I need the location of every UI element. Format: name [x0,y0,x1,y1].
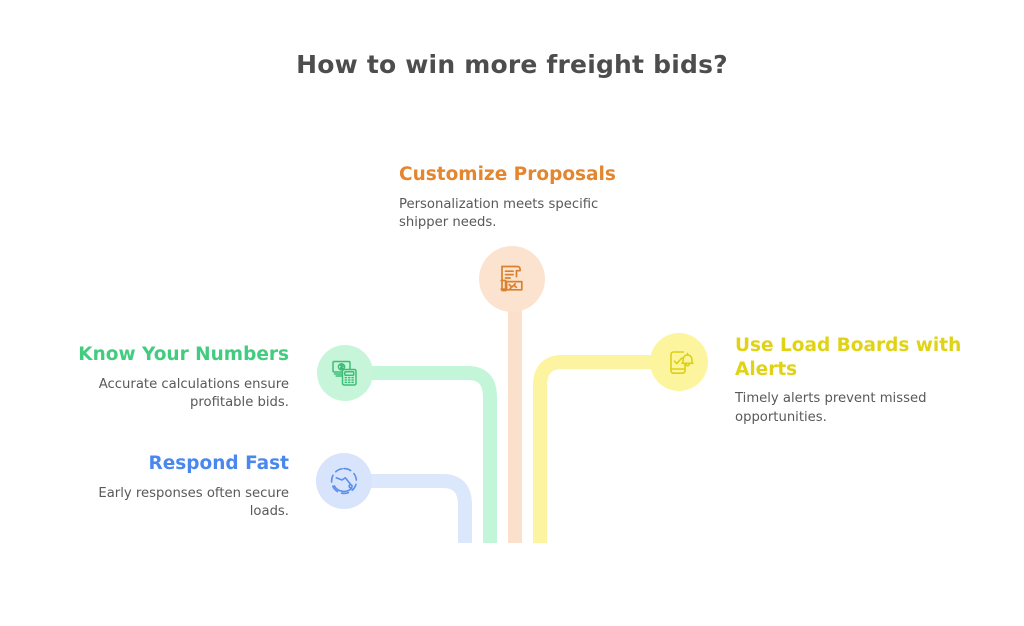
heading-use-load-boards-with-alerts: Use Load Boards with Alerts [735,334,967,381]
connector-respond-fast [367,481,465,543]
text-block-know-your-numbers: Know Your Numbers Accurate calculations … [60,343,289,413]
text-block-customize-proposals: Customize Proposals Personalization meet… [399,163,639,233]
phone-bell-check-icon [663,346,695,378]
node-icon-customize-proposals[interactable] [479,246,545,312]
speedometer-gauge-icon [328,465,360,497]
heading-customize-proposals: Customize Proposals [399,163,639,187]
connector-know-your-numbers [368,373,490,543]
infographic-canvas: How to win more freight bids? [0,0,1024,626]
heading-respond-fast: Respond Fast [60,452,289,476]
description-respond-fast: Early responses often secure loads. [60,485,289,522]
description-use-load-boards-with-alerts: Timely alerts prevent missed opportuniti… [735,390,967,427]
description-customize-proposals: Personalization meets specific shipper n… [399,196,639,233]
money-calculator-icon [329,357,361,389]
text-block-respond-fast: Respond Fast Early responses often secur… [60,452,289,522]
text-block-use-load-boards-with-alerts: Use Load Boards with Alerts Timely alert… [735,334,967,428]
heading-know-your-numbers: Know Your Numbers [60,343,289,367]
description-know-your-numbers: Accurate calculations ensure profitable … [60,376,289,413]
page-title: How to win more freight bids? [0,50,1024,79]
node-icon-know-your-numbers[interactable] [317,345,373,401]
connector-use-load-boards-with-alerts [540,362,660,543]
node-icon-use-load-boards-with-alerts[interactable] [650,333,708,391]
node-icon-respond-fast[interactable] [316,453,372,509]
contract-handshake-icon [494,261,530,297]
connector-lines [0,0,1024,626]
